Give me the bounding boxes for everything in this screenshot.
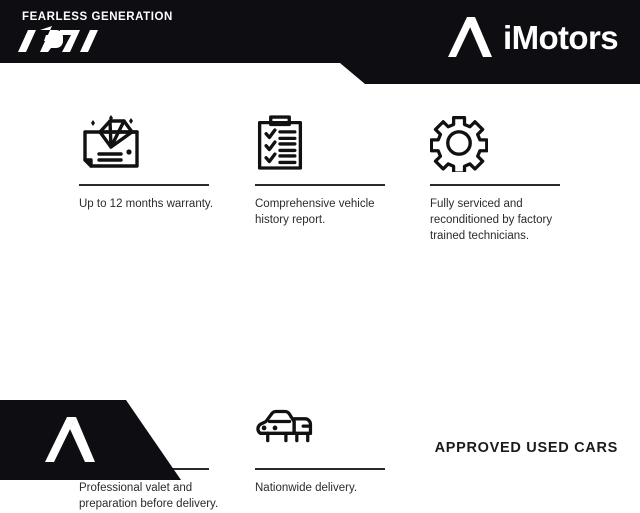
feature-divider xyxy=(255,468,385,470)
feature-label: Nationwide delivery. xyxy=(255,481,397,497)
car-transporter-truck-icon xyxy=(255,396,403,458)
brand-name: iMotors xyxy=(503,21,618,54)
feature-row-top: Up to 12 months warranty. xyxy=(0,84,640,226)
header-brand-lockup: iMotors xyxy=(447,14,618,60)
feature-divider xyxy=(255,184,385,186)
imotors-chevron-icon xyxy=(447,14,493,60)
feature-item-warranty: Up to 12 months warranty. xyxy=(79,112,227,213)
feature-label: Professional valet and preparation befor… xyxy=(79,481,221,513)
footer-tagline: APPROVED USED CARS xyxy=(435,440,618,456)
imotors-chevron-icon xyxy=(44,414,96,466)
feature-label: Up to 12 months warranty. xyxy=(79,197,221,213)
feature-row-bottom: Professional valet and preparation befor… xyxy=(0,226,640,346)
gear-cog-icon xyxy=(430,112,578,174)
feature-item-serviced: Fully serviced and reconditioned by fact… xyxy=(430,112,578,245)
clipboard-checklist-icon xyxy=(255,112,403,174)
feature-grid: Up to 12 months warranty. xyxy=(0,84,640,346)
year-1971-logo xyxy=(16,26,100,56)
feature-label: Comprehensive vehicle history report. xyxy=(255,197,397,229)
warranty-diamond-card-icon xyxy=(79,112,227,174)
header-tagline: FEARLESS GENERATION xyxy=(22,11,173,23)
feature-item-delivery: Nationwide delivery. xyxy=(255,396,403,497)
feature-divider xyxy=(430,184,560,186)
feature-item-history-report: Comprehensive vehicle history report. xyxy=(255,112,403,229)
feature-divider xyxy=(79,184,209,186)
